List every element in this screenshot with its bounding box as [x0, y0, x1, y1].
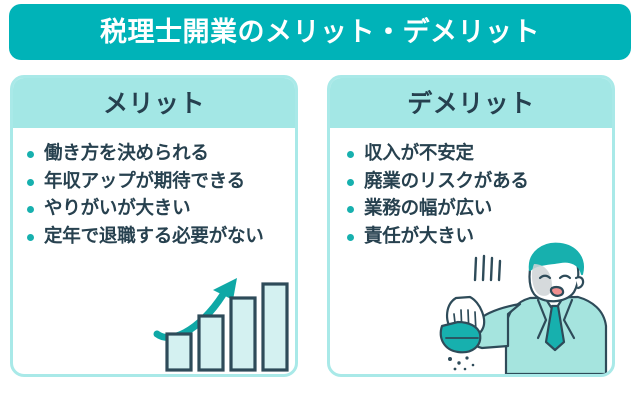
bar-2: [199, 316, 223, 370]
motion-lines: [475, 256, 500, 280]
falling-coins: [448, 356, 474, 370]
bar-1: [167, 334, 191, 370]
list-item: 業務の幅が広い: [340, 197, 602, 222]
list-item: 年収アップが期待できる: [23, 170, 285, 195]
page-title-bar: 税理士開業のメリット・デメリット: [9, 4, 631, 60]
merit-panel-body: 働き方を決められる 年収アップが期待できる やりがいが大きい 定年で退職する必要…: [13, 128, 295, 374]
list-item: 廃業のリスクがある: [340, 170, 602, 195]
demerit-panel-header: デメリット: [330, 78, 612, 128]
list-item: やりがいが大きい: [23, 197, 285, 222]
demerit-panel-title: デメリット: [407, 91, 535, 116]
merit-panel-title: メリット: [103, 91, 205, 116]
merit-list: 働き方を決められる 年収アップが期待できる やりがいが大きい 定年で退職する必要…: [23, 142, 285, 249]
demerit-list: 収入が不安定 廃業のリスクがある 業務の幅が広い 責任が大きい: [340, 142, 602, 249]
bar-3: [231, 298, 255, 370]
worried-businessman-icon: [434, 242, 614, 374]
list-item: 定年で退職する必要がない: [23, 225, 285, 250]
merit-panel: メリット 働き方を決められる 年収アップが期待できる やりがいが大きい 定年で退…: [10, 75, 298, 377]
list-item: 収入が不安定: [340, 142, 602, 167]
mouth: [551, 287, 563, 296]
list-item: 責任が大きい: [340, 225, 602, 250]
merit-panel-header: メリット: [13, 78, 295, 128]
demerit-panel: デメリット 収入が不安定 廃業のリスクがある 業務の幅が広い 責任が大きい: [327, 75, 615, 377]
list-item: 働き方を決められる: [23, 142, 285, 167]
growth-chart-icon: [151, 266, 291, 374]
bar-4: [263, 284, 287, 370]
demerit-panel-body: 収入が不安定 廃業のリスクがある 業務の幅が広い 責任が大きい: [330, 128, 612, 374]
page-title: 税理士開業のメリット・デメリット: [100, 19, 540, 46]
